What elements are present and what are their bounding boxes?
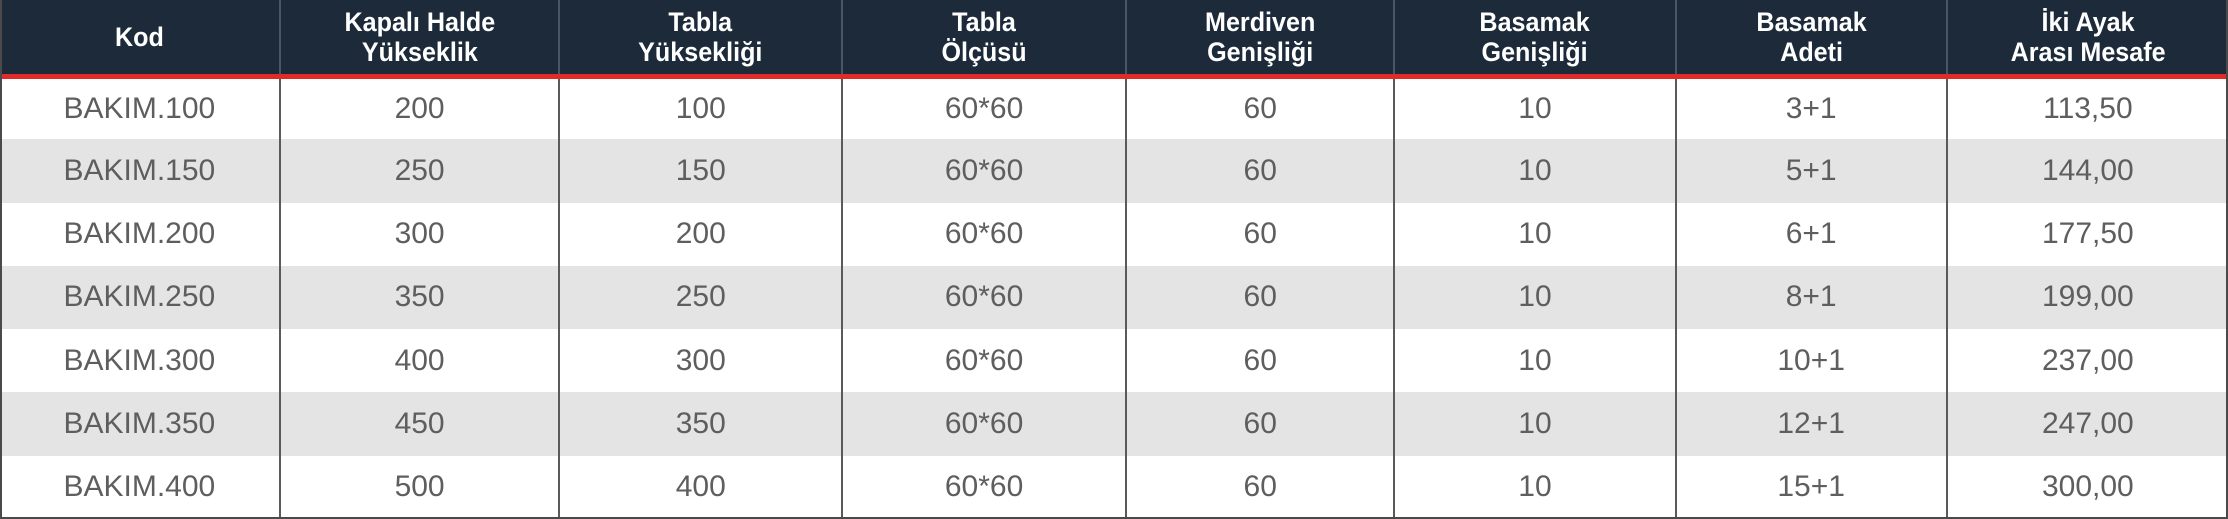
- cell-merdiven-genisligi: 60: [1126, 392, 1394, 455]
- cell-iki-ayak-arasi-mesafe: 237,00: [1947, 329, 2228, 392]
- column-header-tabla-yuksekligi: Tabla Yüksekliği: [569, 0, 832, 76]
- cell-tabla-yuksekligi: 300: [559, 329, 842, 392]
- table-row: BAKIM.400 500 400 60*60 60 10 15+1 300,0…: [0, 456, 2228, 519]
- table-row: BAKIM.300 400 300 60*60 60 10 10+1 237,0…: [0, 329, 2228, 392]
- cell-merdiven-genisligi: 60: [1126, 456, 1394, 519]
- cell-basamak-adeti: 6+1: [1676, 203, 1947, 266]
- cell-tabla-yuksekligi: 400: [559, 456, 842, 519]
- column-header-merdiven-genisligi: Merdiven Genişliği: [1135, 0, 1385, 76]
- cell-basamak-adeti: 8+1: [1676, 266, 1947, 329]
- column-header-basamak-adeti-line2: Adeti: [1692, 37, 1931, 67]
- cell-basamak-genisligi: 10: [1394, 203, 1675, 266]
- header-row: Kod Kapalı Halde Yükseklik Tabla Yüksekl…: [0, 0, 2228, 76]
- column-header-tabla-olcusu: Tabla Ölçüsü: [852, 0, 1116, 76]
- cell-basamak-adeti: 12+1: [1676, 392, 1947, 455]
- table-row: BAKIM.250 350 250 60*60 60 10 8+1 199,00: [0, 266, 2228, 329]
- cell-kapali-halde-yukseklik: 250: [280, 139, 560, 202]
- cell-basamak-adeti: 3+1: [1676, 76, 1947, 139]
- cell-tabla-olcusu: 60*60: [842, 329, 1126, 392]
- cell-kapali-halde-yukseklik: 350: [280, 266, 560, 329]
- cell-kapali-halde-yukseklik: 300: [280, 203, 560, 266]
- cell-kod: BAKIM.100: [0, 76, 280, 139]
- cell-tabla-olcusu: 60*60: [842, 266, 1126, 329]
- spec-table-container: Kod Kapalı Halde Yükseklik Tabla Yüksekl…: [0, 0, 2228, 519]
- column-header-iki-ayak-arasi-mesafe: İki Ayak Arası Mesafe: [1957, 0, 2219, 76]
- table-header: Kod Kapalı Halde Yükseklik Tabla Yüksekl…: [0, 0, 2228, 76]
- column-header-merdiven-genisligi-line1: Merdiven: [1142, 7, 1379, 37]
- cell-tabla-yuksekligi: 350: [559, 392, 842, 455]
- table-row: BAKIM.100 200 100 60*60 60 10 3+1 113,50: [0, 76, 2228, 139]
- specification-table: Kod Kapalı Halde Yükseklik Tabla Yüksekl…: [0, 0, 2228, 519]
- cell-kapali-halde-yukseklik: 500: [280, 456, 560, 519]
- cell-merdiven-genisligi: 60: [1126, 139, 1394, 202]
- cell-tabla-yuksekligi: 200: [559, 203, 842, 266]
- cell-tabla-olcusu: 60*60: [842, 139, 1126, 202]
- cell-tabla-olcusu: 60*60: [842, 392, 1126, 455]
- table-body: BAKIM.100 200 100 60*60 60 10 3+1 113,50…: [0, 76, 2228, 519]
- cell-iki-ayak-arasi-mesafe: 113,50: [1947, 76, 2228, 139]
- cell-kod: BAKIM.400: [0, 456, 280, 519]
- cell-kapali-halde-yukseklik: 400: [280, 329, 560, 392]
- cell-merdiven-genisligi: 60: [1126, 76, 1394, 139]
- cell-merdiven-genisligi: 60: [1126, 329, 1394, 392]
- cell-kapali-halde-yukseklik: 200: [280, 76, 560, 139]
- cell-tabla-olcusu: 60*60: [842, 76, 1126, 139]
- cell-tabla-olcusu: 60*60: [842, 203, 1126, 266]
- table-row: BAKIM.200 300 200 60*60 60 10 6+1 177,50: [0, 203, 2228, 266]
- cell-tabla-yuksekligi: 150: [559, 139, 842, 202]
- cell-tabla-yuksekligi: 250: [559, 266, 842, 329]
- cell-iki-ayak-arasi-mesafe: 177,50: [1947, 203, 2228, 266]
- column-header-kapali-halde-yukseklik-line1: Kapalı Halde: [296, 7, 543, 37]
- column-header-kod: Kod: [10, 0, 270, 76]
- cell-kod: BAKIM.300: [0, 329, 280, 392]
- cell-kod: BAKIM.250: [0, 266, 280, 329]
- cell-basamak-genisligi: 10: [1394, 76, 1675, 139]
- column-header-kapali-halde-yukseklik: Kapalı Halde Yükseklik: [290, 0, 550, 76]
- cell-merdiven-genisligi: 60: [1126, 266, 1394, 329]
- column-header-tabla-yuksekligi-line1: Tabla: [576, 7, 826, 37]
- cell-kapali-halde-yukseklik: 450: [280, 392, 560, 455]
- cell-iki-ayak-arasi-mesafe: 247,00: [1947, 392, 2228, 455]
- cell-kod: BAKIM.200: [0, 203, 280, 266]
- cell-tabla-olcusu: 60*60: [842, 456, 1126, 519]
- cell-iki-ayak-arasi-mesafe: 199,00: [1947, 266, 2228, 329]
- cell-iki-ayak-arasi-mesafe: 300,00: [1947, 456, 2228, 519]
- cell-basamak-genisligi: 10: [1394, 139, 1675, 202]
- cell-tabla-yuksekligi: 100: [559, 76, 842, 139]
- table-row: BAKIM.350 450 350 60*60 60 10 12+1 247,0…: [0, 392, 2228, 455]
- column-header-kod-line1: Kod: [15, 22, 263, 52]
- column-header-tabla-olcusu-line1: Tabla: [859, 7, 1110, 37]
- cell-basamak-genisligi: 10: [1394, 329, 1675, 392]
- column-header-iki-ayak-arasi-mesafe-line1: İki Ayak: [1963, 7, 2212, 37]
- column-header-tabla-olcusu-line2: Ölçüsü: [859, 37, 1110, 67]
- column-header-basamak-genisligi-line1: Basamak: [1411, 7, 1659, 37]
- column-header-basamak-genisligi-line2: Genişliği: [1411, 37, 1659, 67]
- cell-merdiven-genisligi: 60: [1126, 203, 1394, 266]
- column-header-kapali-halde-yukseklik-line2: Yükseklik: [296, 37, 543, 67]
- column-header-basamak-adeti: Basamak Adeti: [1685, 0, 1937, 76]
- cell-basamak-genisligi: 10: [1394, 456, 1675, 519]
- cell-iki-ayak-arasi-mesafe: 144,00: [1947, 139, 2228, 202]
- column-header-tabla-yuksekligi-line2: Yüksekliği: [576, 37, 826, 67]
- column-header-iki-ayak-arasi-mesafe-line2: Arası Mesafe: [1963, 37, 2212, 67]
- cell-basamak-genisligi: 10: [1394, 266, 1675, 329]
- table-row: BAKIM.150 250 150 60*60 60 10 5+1 144,00: [0, 139, 2228, 202]
- cell-kod: BAKIM.150: [0, 139, 280, 202]
- column-header-merdiven-genisligi-line2: Genişliği: [1142, 37, 1379, 67]
- cell-basamak-adeti: 5+1: [1676, 139, 1947, 202]
- cell-basamak-adeti: 15+1: [1676, 456, 1947, 519]
- column-header-basamak-adeti-line1: Basamak: [1692, 7, 1931, 37]
- column-header-basamak-genisligi: Basamak Genişliği: [1404, 0, 1665, 76]
- cell-basamak-genisligi: 10: [1394, 392, 1675, 455]
- cell-kod: BAKIM.350: [0, 392, 280, 455]
- cell-basamak-adeti: 10+1: [1676, 329, 1947, 392]
